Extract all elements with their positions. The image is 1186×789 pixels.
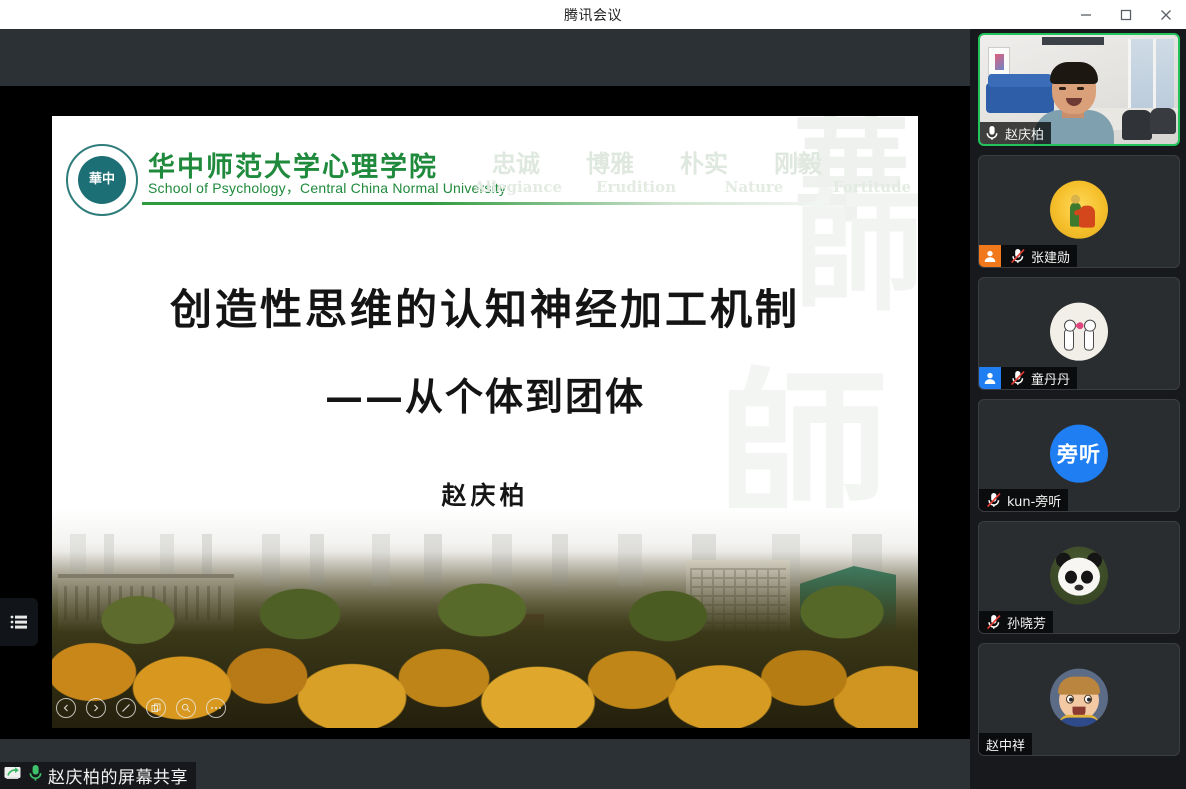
participant-tile-zhaozhongxiang[interactable]: 赵中祥 — [978, 643, 1180, 756]
microphone-icon — [984, 125, 1000, 141]
maximize-button[interactable] — [1106, 0, 1146, 29]
motto-chinese: 忠诚 博雅 朴实 刚毅 — [492, 144, 822, 179]
participant-tile-kun[interactable]: 旁听 kun-旁听 — [978, 399, 1180, 512]
participant-name-strip: 赵庆柏 — [980, 122, 1051, 144]
slide-author: 赵庆柏 — [52, 476, 918, 512]
screen-share-status-bar: 赵庆柏的屏幕共享 — [0, 762, 196, 789]
participant-name: 赵中祥 — [986, 735, 1025, 754]
presentation-slide: 華 師 師 華中 华中师范大学心理学院 School of Psychology… — [52, 116, 918, 728]
motto-en-2: Erudition — [590, 178, 682, 196]
participant-name-strip: kun-旁听 — [979, 489, 1068, 511]
motto-cn-1: 忠诚 — [492, 144, 540, 179]
participant-name: kun-旁听 — [1007, 491, 1061, 510]
window-title: 腾讯会议 — [564, 5, 622, 25]
list-panel-icon[interactable] — [0, 598, 38, 646]
pdf-viewer-toolbar — [56, 698, 226, 718]
participant-name: 赵庆柏 — [1005, 124, 1044, 143]
title-bar: 腾讯会议 — [0, 0, 1186, 29]
tencent-meeting-window: 腾讯会议 華 師 師 — [0, 0, 1186, 789]
avatar — [1050, 668, 1108, 726]
motto-english: Allegiance Erudition Nature Fortitude — [472, 178, 918, 196]
seal-inner-text: 華中 — [78, 156, 126, 204]
campus-photo — [52, 508, 918, 728]
minimize-button[interactable] — [1066, 0, 1106, 29]
motto-en-1: Allegiance — [472, 178, 564, 196]
shared-screen-stage: 華 師 師 華中 华中师范大学心理学院 School of Psychology… — [0, 86, 970, 739]
participant-name-strip: 张建勋 — [979, 245, 1077, 267]
school-name-en: School of Psychology，Central China Norma… — [148, 178, 506, 198]
participant-tile-sunxiaofang[interactable]: 孙晓芳 — [978, 521, 1180, 634]
slide-subtitle: ——从个体到团体 — [52, 366, 918, 421]
meeting-body: 華 師 師 華中 华中师范大学心理学院 School of Psychology… — [0, 29, 1186, 789]
microphone-muted-icon — [986, 614, 1002, 630]
avatar — [1050, 546, 1108, 604]
microphone-muted-icon — [1010, 248, 1026, 264]
participant-name: 童丹丹 — [1031, 369, 1070, 388]
header-divider-rule — [142, 202, 822, 205]
slide-header: 華中 华中师范大学心理学院 School of Psychology，Centr… — [52, 116, 918, 212]
screen-share-icon — [4, 765, 23, 787]
participant-tile-zhangjianxun[interactable]: 张建勋 — [978, 155, 1180, 268]
participant-name: 孙晓芳 — [1007, 613, 1046, 632]
host-badge-icon — [979, 245, 1001, 267]
cohost-badge-icon — [979, 367, 1001, 389]
participant-tile-zhaoqingbai[interactable]: 赵庆柏 — [978, 33, 1180, 146]
motto-cn-4: 刚毅 — [774, 144, 822, 179]
participant-name-strip: 童丹丹 — [979, 367, 1077, 389]
participant-name-strip: 孙晓芳 — [979, 611, 1053, 633]
avatar: 旁听 — [1050, 424, 1108, 482]
share-top-chrome — [0, 29, 970, 86]
previous-page-button[interactable] — [56, 698, 76, 718]
participant-tile-tongdandan[interactable]: 童丹丹 — [978, 277, 1180, 390]
pages-icon[interactable] — [146, 698, 166, 718]
motto-en-3: Nature — [708, 178, 800, 196]
window-controls — [1066, 0, 1186, 29]
participant-name: 张建勋 — [1031, 247, 1070, 266]
screen-share-status-text: 赵庆柏的屏幕共享 — [48, 763, 188, 788]
slide-title: 创造性思维的认知神经加工机制 — [52, 276, 918, 337]
avatar — [1050, 180, 1108, 238]
participant-rail[interactable]: 赵庆柏 — [970, 29, 1186, 789]
ellipsis-icon[interactable] — [206, 698, 226, 718]
avatar-initials: 旁听 — [1057, 438, 1101, 468]
microphone-muted-icon — [986, 492, 1002, 508]
magnifier-icon[interactable] — [176, 698, 196, 718]
next-page-button[interactable] — [86, 698, 106, 718]
participant-name-strip: 赵中祥 — [979, 733, 1032, 755]
pen-icon[interactable] — [116, 698, 136, 718]
microphone-icon — [28, 764, 43, 787]
motto-cn-2: 博雅 — [586, 144, 634, 179]
close-button[interactable] — [1146, 0, 1186, 29]
university-seal-logo: 華中 — [66, 144, 138, 216]
motto-en-4: Fortitude — [826, 178, 918, 196]
motto-cn-3: 朴实 — [680, 144, 728, 179]
avatar — [1050, 302, 1108, 360]
microphone-muted-icon — [1010, 370, 1026, 386]
